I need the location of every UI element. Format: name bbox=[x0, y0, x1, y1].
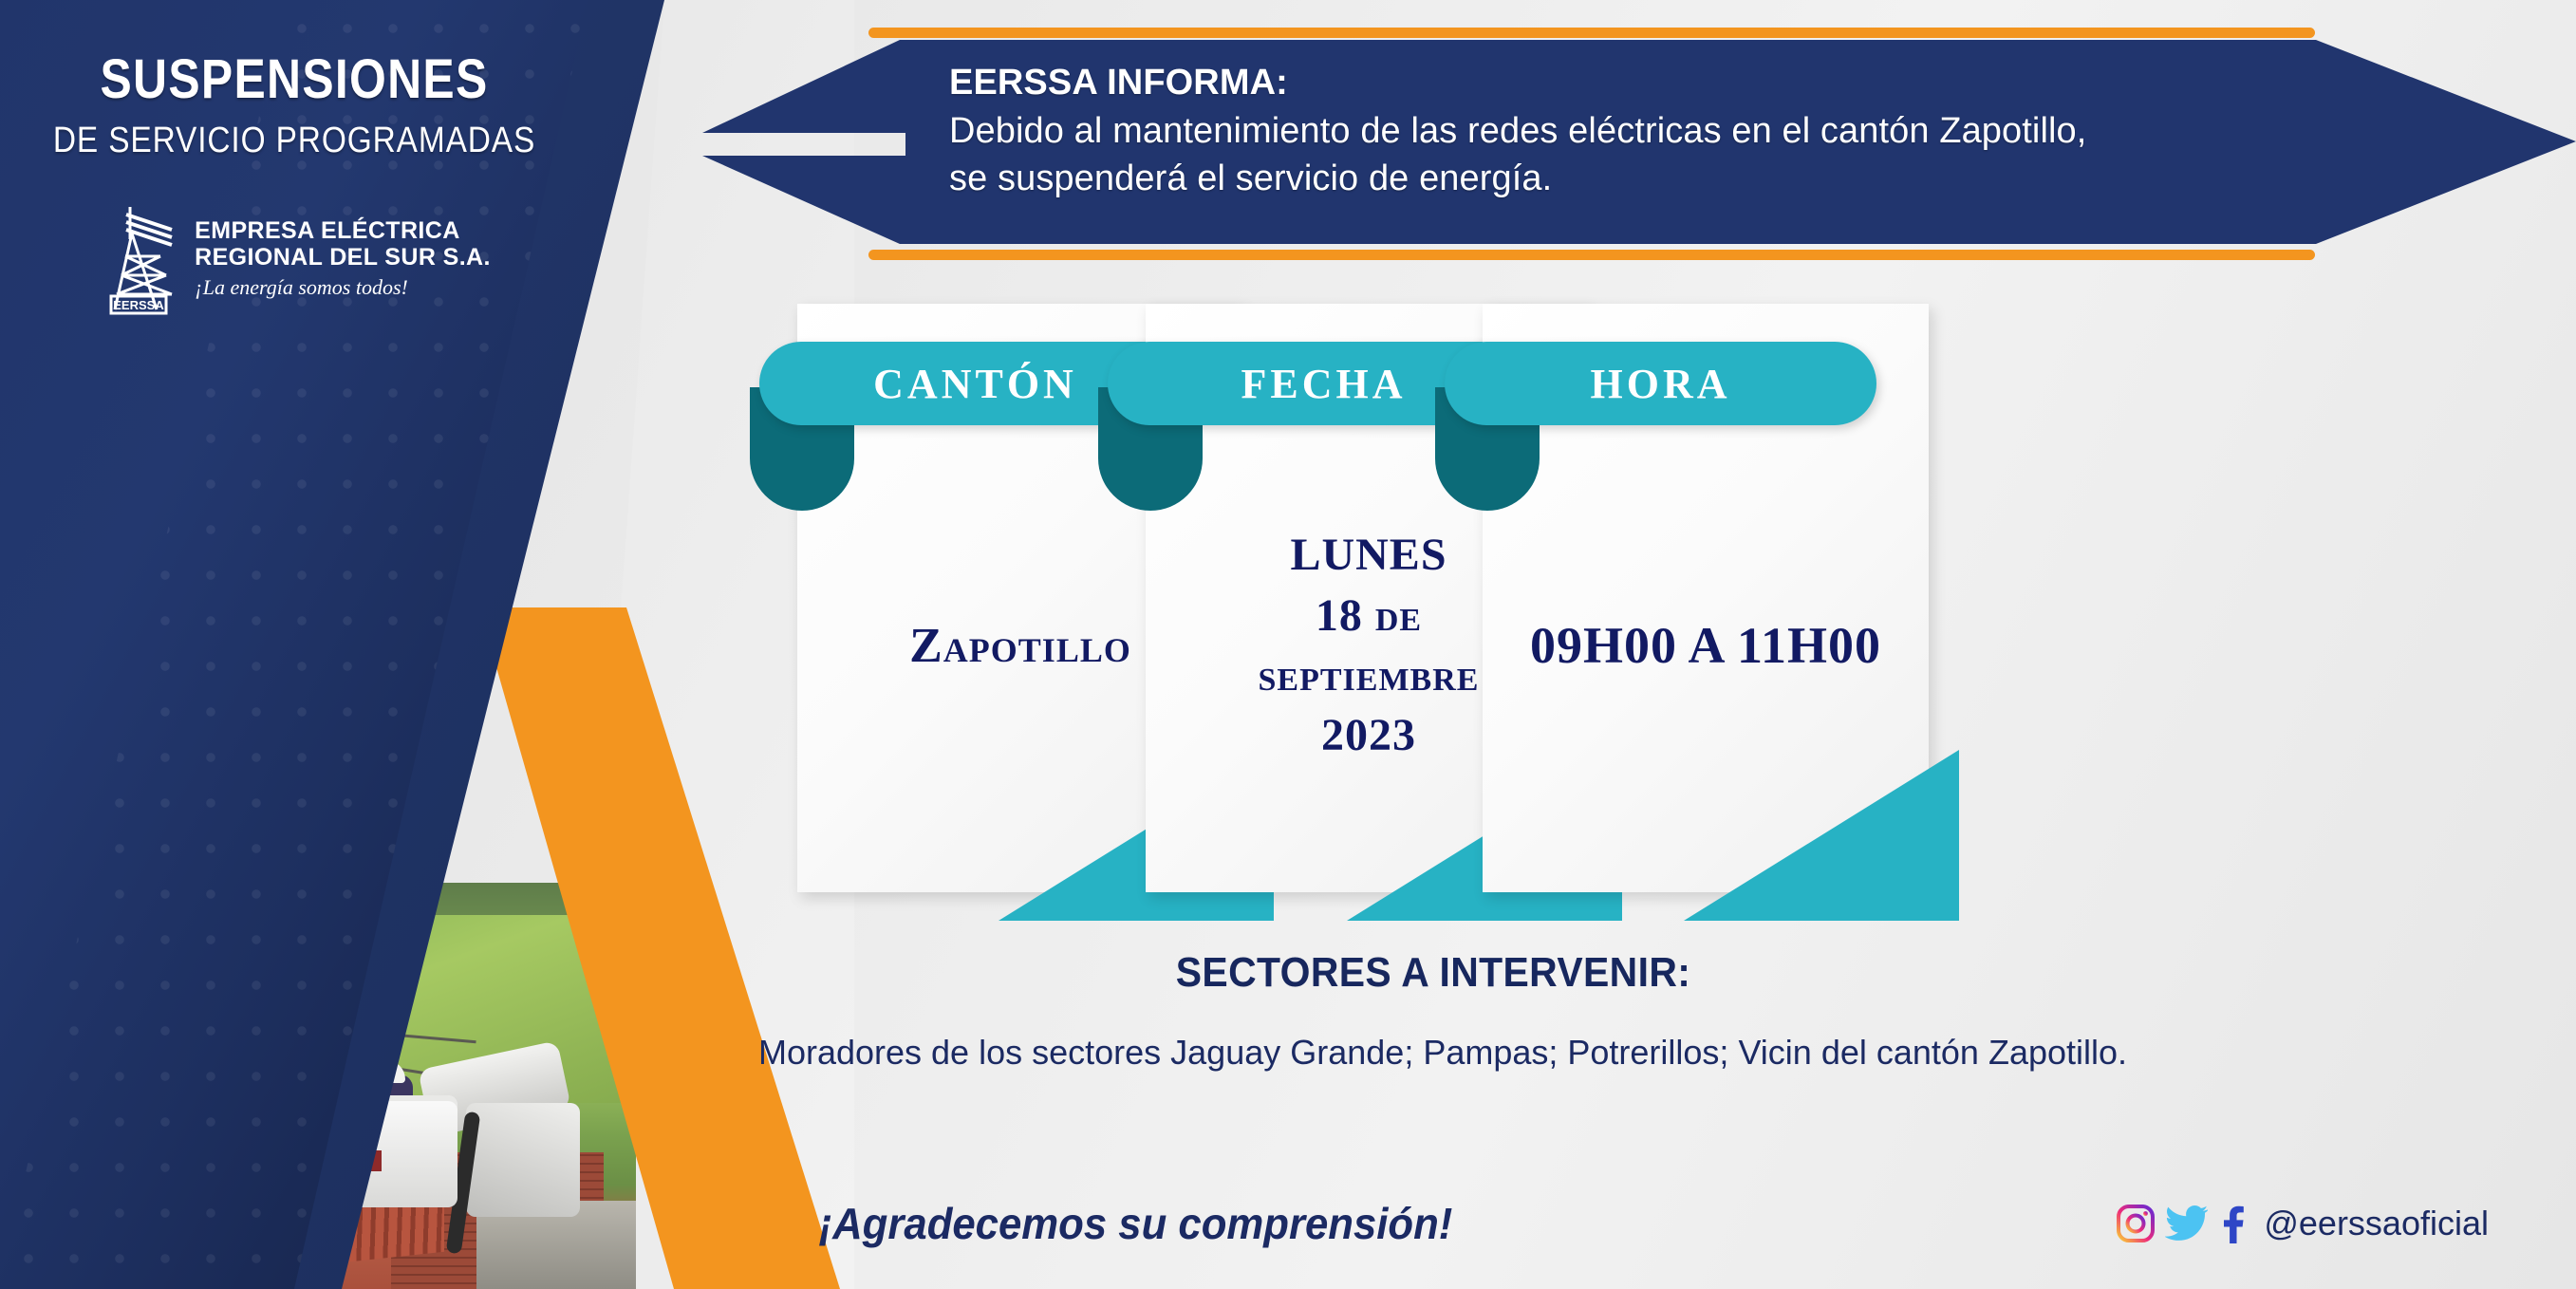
page-subtitle: DE SERVICIO PROGRAMADAS bbox=[35, 121, 553, 161]
banner-bottom-accent-line bbox=[868, 250, 2315, 260]
logo-wordmark: EMPRESA ELÉCTRICA REGIONAL DEL SUR S.A. … bbox=[195, 217, 491, 300]
banner-line-1: Debido al mantenimiento de las redes elé… bbox=[949, 107, 2468, 156]
sectors-body: Moradores de los sectores Jaguay Grande;… bbox=[664, 1030, 2221, 1075]
svg-text:EERSSA: EERSSA bbox=[113, 298, 164, 312]
social-handle[interactable]: @eerssaoficial bbox=[2264, 1204, 2489, 1243]
poster-canvas: SUSPENSIONES DE SERVICIO PROGRAMADAS EER… bbox=[0, 0, 2576, 1289]
instagram-icon[interactable] bbox=[2116, 1204, 2156, 1243]
card-label-fecha: FECHA bbox=[1241, 360, 1407, 408]
logo-line-2: REGIONAL DEL SUR S.A. bbox=[195, 244, 491, 271]
page-title: SUSPENSIONES bbox=[41, 47, 547, 111]
transmission-tower-icon: EERSSA bbox=[98, 201, 179, 315]
social-media-group: @eerssaoficial bbox=[2116, 1204, 2489, 1243]
banner-heading: EERSSA INFORMA: bbox=[949, 59, 2468, 107]
banner-text: EERSSA INFORMA: Debido al mantenimiento … bbox=[949, 59, 2468, 203]
card-label-pill: HORA bbox=[1445, 342, 1876, 425]
brand-block: SUSPENSIONES DE SERVICIO PROGRAMADAS EER… bbox=[0, 0, 588, 315]
card-label-canton: CANTÓN bbox=[873, 360, 1077, 408]
twitter-icon[interactable] bbox=[2165, 1204, 2209, 1243]
banner-line-2: se suspenderá el servicio de energía. bbox=[949, 155, 2468, 203]
announcement-banner: EERSSA INFORMA: Debido al mantenimiento … bbox=[702, 23, 2576, 262]
card-value-hora: 09H00 A 11H00 bbox=[1483, 446, 1929, 845]
logo-slogan: ¡La energía somos todos! bbox=[195, 275, 491, 300]
eerssa-logo: EERSSA EMPRESA ELÉCTRICA REGIONAL DEL SU… bbox=[0, 201, 588, 315]
banner-top-accent-line bbox=[868, 28, 2315, 38]
info-card-hora: HORA 09H00 A 11H00 bbox=[1435, 304, 1881, 892]
sectors-title: SECTORES A INTERVENIR: bbox=[665, 949, 2201, 997]
facebook-icon[interactable] bbox=[2218, 1204, 2247, 1243]
card-label-hora: HORA bbox=[1591, 360, 1731, 408]
logo-line-1: EMPRESA ELÉCTRICA bbox=[195, 217, 491, 244]
thanks-message: ¡Agradecemos su comprensión! bbox=[819, 1198, 1453, 1249]
